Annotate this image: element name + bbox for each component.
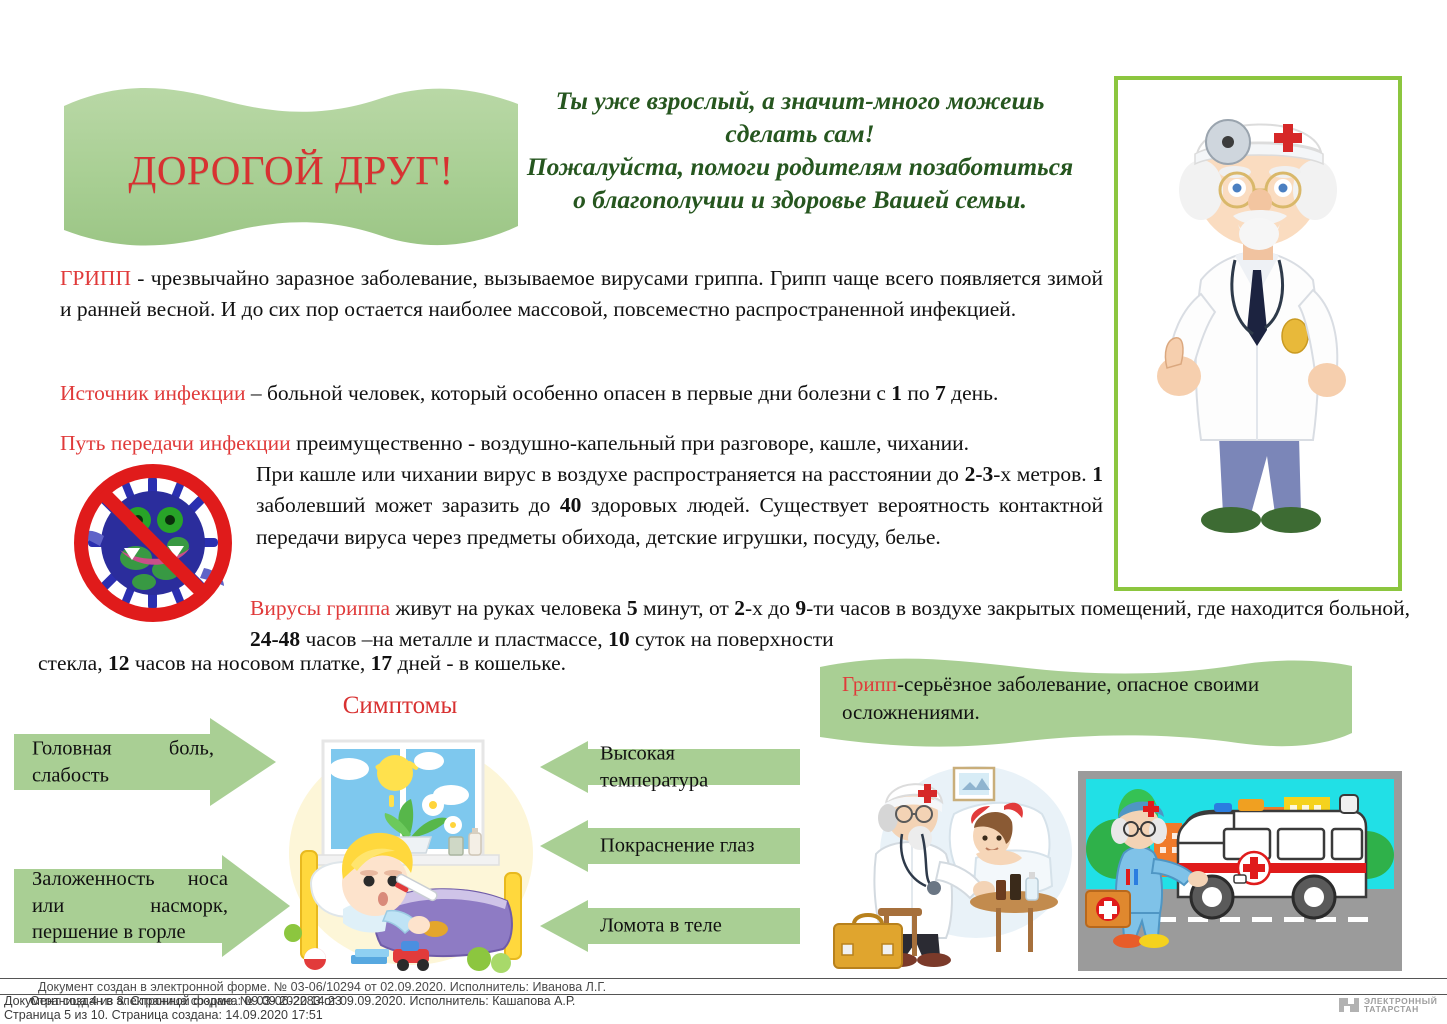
symptom-label: Заложенность носа или насморк, першение … xyxy=(32,866,228,946)
flu-prevention-poster: ДОРОГОЙ ДРУГ! Ты уже взрослый, а значит-… xyxy=(0,0,1447,1024)
symptom-label: Высокая температура xyxy=(600,740,784,793)
paragraph-flu-definition: ГРИПП - чрезвычайно заразное заболевание… xyxy=(60,263,1103,325)
lifetime-air-hours-from: 2 xyxy=(734,596,745,620)
ambulance-icon xyxy=(1078,771,1402,971)
electronic-tatarstan-logo: ЭЛЕКТРОННЫЙ ТАТАРСТАН xyxy=(1338,992,1438,1018)
keyword-flu-note: Грипп xyxy=(842,672,897,696)
footer-stamp-a-line-1: Документ создан в электронной форме. № 0… xyxy=(38,980,606,994)
symptom-label: Покраснение глаз xyxy=(600,833,784,860)
tatarstan-mark-icon xyxy=(1338,995,1360,1015)
tatarstan-logo-words: ЭЛЕКТРОННЫЙ ТАТАРСТАН xyxy=(1364,997,1437,1014)
route-text-3: -х метров. xyxy=(993,462,1092,486)
ribbon-title: ДОРОГОЙ ДРУГ! xyxy=(62,84,520,249)
headline-line-4: о благополучии и здоровье Вашей семьи. xyxy=(490,183,1110,216)
child-sick-in-bed-icon xyxy=(283,733,541,973)
paragraph-virus-lifetime: Вирусы гриппа живут на руках человека 5 … xyxy=(250,593,1410,655)
ribbon-banner: ДОРОГОЙ ДРУГ! xyxy=(62,84,520,249)
doctor-visit-icon xyxy=(826,762,1072,974)
route-distance-meters: 2-3 xyxy=(965,462,994,486)
footer-stamp-b-line-2: Страница 5 из 10. Страница создана: 14.0… xyxy=(4,1008,323,1022)
lifetime-tail-text-3: дней - в кошельке. xyxy=(392,651,566,675)
lifetime-hands-minutes: 5 xyxy=(627,596,638,620)
lifetime-text-4: -ти часов в воздухе закрытых помещений, … xyxy=(806,596,1410,620)
lifetime-hanky-hours: 12 xyxy=(108,651,130,675)
keyword-flu-viruses: Вирусы гриппа xyxy=(250,596,390,620)
complications-note-body: -серьёзное заболевание, опасное своими о… xyxy=(842,672,1259,724)
route-indented-body: При кашле или чихании вирус в воздухе ра… xyxy=(256,459,1103,553)
headline-line-2: сделать сам! xyxy=(490,117,1110,150)
virus-stop-shape xyxy=(58,458,248,628)
keyword-transmission-route: Путь передачи инфекции xyxy=(60,431,291,455)
headline-line-1: Ты уже взрослый, а значит-много можешь xyxy=(490,84,1110,117)
footer-divider-top xyxy=(0,978,1447,979)
lifetime-text-1: живут на руках человека xyxy=(390,596,627,620)
no-virus-prohibition-icon xyxy=(58,458,248,628)
symptom-label: Ломота в теле xyxy=(600,913,784,940)
source-day-from: 1 xyxy=(891,381,902,405)
route-one-sick: 1 xyxy=(1092,462,1103,486)
source-text-1: – больной человек, который особенно опас… xyxy=(245,381,891,405)
route-people-count: 40 xyxy=(560,493,582,517)
symptom-label: Головная боль, слабость xyxy=(32,735,214,788)
symptom-high-fever: Высокая температура xyxy=(540,741,800,793)
symptom-nasal-congestion: Заложенность носа или насморк, першение … xyxy=(14,855,290,957)
route-text-1: преимущественно - воздушно-капельный при… xyxy=(291,431,969,455)
paragraph-flu-text: - чрезвычайно заразное заболевание, вызы… xyxy=(60,266,1103,321)
lifetime-air-hours-to: 9 xyxy=(795,596,806,620)
tatarstan-logo-line-2: ТАТАРСТАН xyxy=(1364,1005,1437,1014)
lifetime-text-2: минут, от xyxy=(638,596,735,620)
paragraph-infection-source: Источник инфекции – больной человек, кот… xyxy=(60,378,1103,409)
source-text-2: по xyxy=(902,381,935,405)
symptoms-title: Симптомы xyxy=(300,692,500,720)
lifetime-tail-text-2: часов на носовом платке, xyxy=(129,651,370,675)
keyword-infection-source: Источник инфекции xyxy=(60,381,245,405)
doctor-examining-child-illustration xyxy=(826,762,1072,974)
route-text-2: При кашле или чихании вирус в воздухе ра… xyxy=(256,462,965,486)
child-sick-in-bed-illustration xyxy=(283,733,541,973)
symptom-red-eyes: Покраснение глаз xyxy=(540,820,800,872)
lifetime-wallet-days: 17 xyxy=(371,651,393,675)
keyword-flu: ГРИПП xyxy=(60,266,131,290)
complications-note: Грипп-серьёзное заболевание, опасное сво… xyxy=(818,657,1354,749)
headline-line-3: Пожалуйста, помоги родителям позаботитьс… xyxy=(490,150,1110,183)
source-text-3: день. xyxy=(946,381,999,405)
lifetime-text-3: -х до xyxy=(745,596,795,620)
footer-stamp-c-line-1: Страница 4 из 8. Страница создана: 09.09… xyxy=(30,994,342,1008)
elderly-doctor-thumbs-up-icon xyxy=(1123,84,1393,584)
headline-block: Ты уже взрослый, а значит-много можешь с… xyxy=(490,84,1110,217)
complications-note-text: Грипп-серьёзное заболевание, опасное сво… xyxy=(842,671,1334,726)
symptom-body-aches: Ломота в теле xyxy=(540,900,800,952)
symptom-headache-weakness: Головная боль, слабость xyxy=(14,718,276,806)
source-day-to: 7 xyxy=(935,381,946,405)
route-text-4: заболевший может заразить до xyxy=(256,493,560,517)
ambulance-illustration xyxy=(1078,771,1402,971)
lifetime-tail-text-1: стекла, xyxy=(38,651,108,675)
doctor-illustration-frame xyxy=(1114,76,1402,591)
paragraph-virus-lifetime-tail: стекла, 12 часов на носовом платке, 17 д… xyxy=(38,648,738,679)
